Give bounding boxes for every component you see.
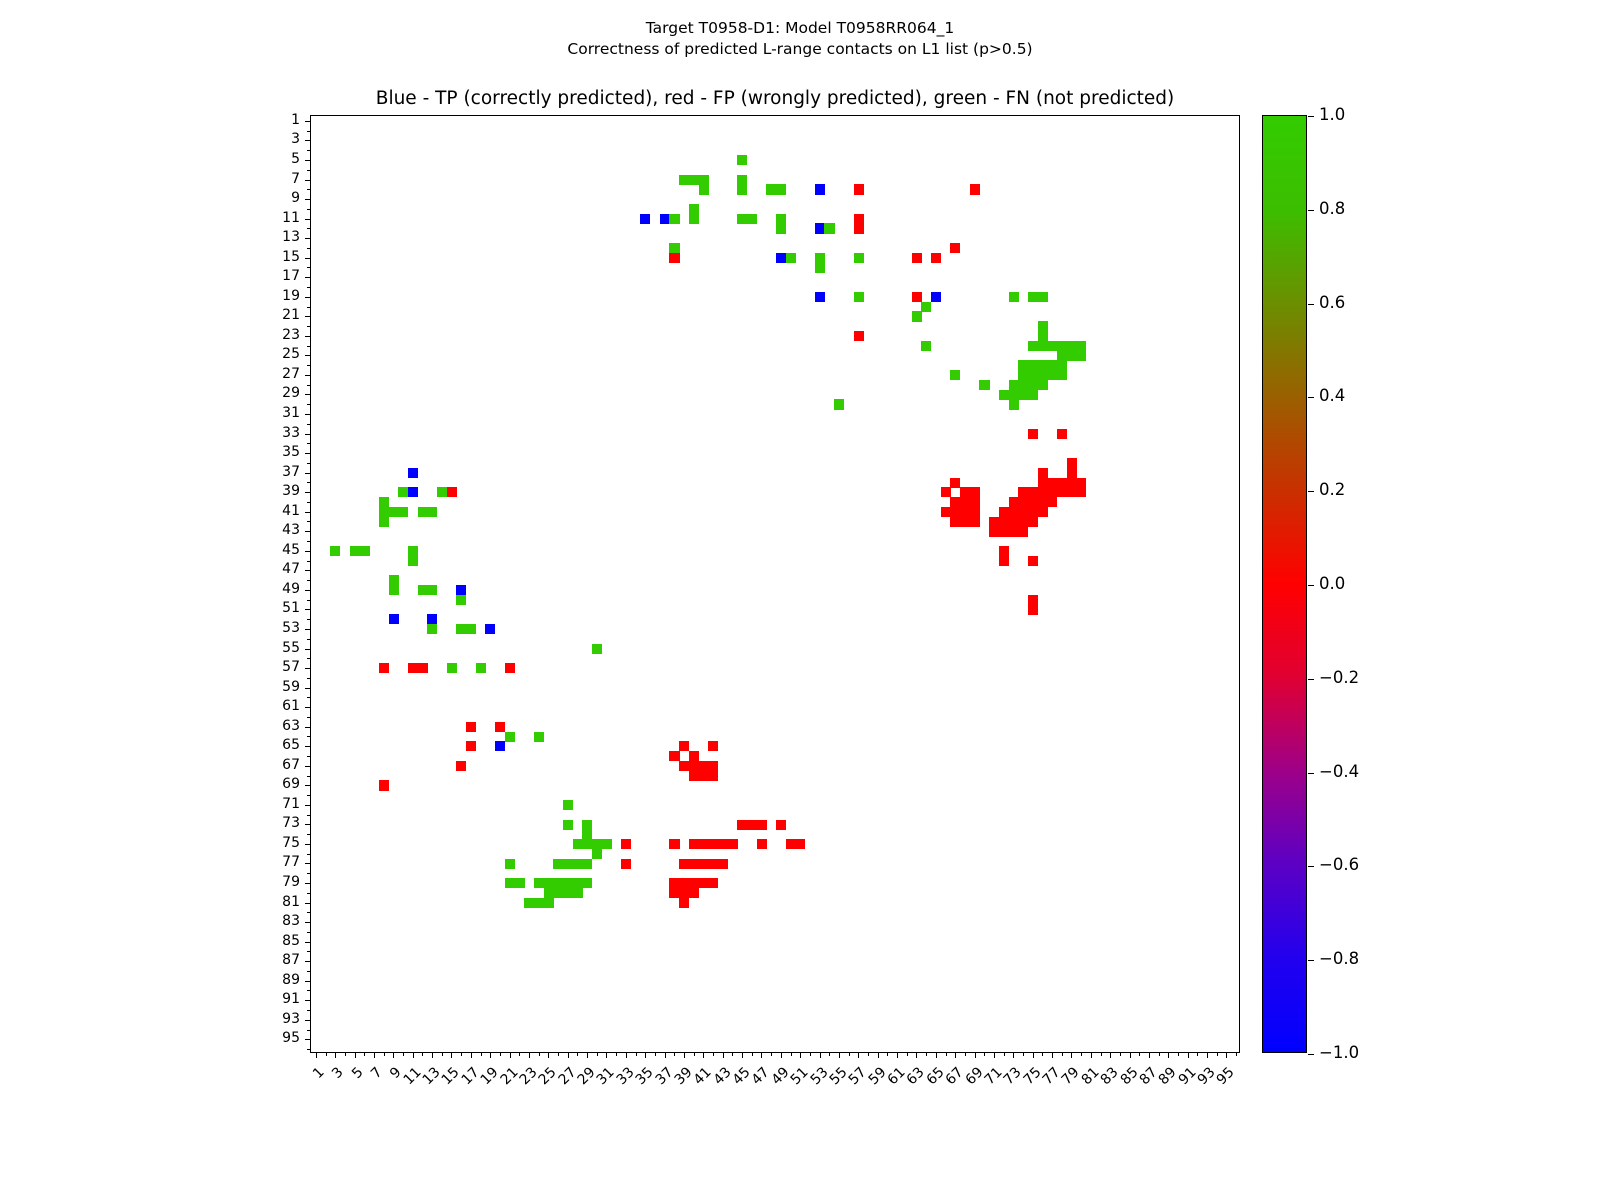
x-tick	[1062, 1052, 1063, 1056]
heatmap-cell	[553, 859, 563, 869]
heatmap-cell	[1047, 360, 1057, 370]
heatmap-cell	[737, 155, 747, 165]
heatmap-cell	[1038, 360, 1048, 370]
heatmap-cell	[786, 839, 796, 849]
y-tick-label: 31	[240, 406, 300, 420]
y-tick	[307, 365, 311, 366]
heatmap-cell	[679, 175, 689, 185]
y-tick	[305, 336, 311, 337]
heatmap-cell	[456, 624, 466, 634]
y-tick	[307, 170, 311, 171]
heatmap-cell	[476, 663, 486, 673]
y-tick-label: 73	[240, 816, 300, 830]
x-tick	[800, 1052, 801, 1058]
y-tick-label: 47	[240, 562, 300, 576]
y-tick	[305, 414, 311, 415]
y-tick	[307, 346, 311, 347]
heatmap-cell	[1018, 497, 1028, 507]
heatmap-cell	[669, 751, 679, 761]
y-tick	[307, 990, 311, 991]
x-tick	[839, 1052, 840, 1058]
heatmap-cell	[912, 311, 922, 321]
heatmap-cell	[1038, 341, 1048, 351]
y-tick-label: 87	[240, 953, 300, 967]
x-tick	[926, 1052, 927, 1056]
y-tick-label: 93	[240, 1012, 300, 1026]
heatmap-cell	[563, 800, 573, 810]
y-tick-label: 37	[240, 465, 300, 479]
heatmap-cell	[1057, 429, 1067, 439]
heatmap-cell	[1009, 380, 1019, 390]
y-tick	[305, 473, 311, 474]
heatmap-cell	[1038, 380, 1048, 390]
y-tick	[307, 482, 311, 483]
heatmap-cell	[398, 507, 408, 517]
colorbar-gradient	[1263, 116, 1306, 1052]
heatmap-cell	[1018, 360, 1028, 370]
x-tick	[1013, 1052, 1014, 1058]
heatmap-cell	[699, 175, 709, 185]
heatmap-cell	[456, 761, 466, 771]
heatmap-cell	[456, 595, 466, 605]
heatmap-cell	[786, 253, 796, 263]
heatmap-cell	[669, 888, 679, 898]
heatmap-cell	[950, 370, 960, 380]
colorbar-tick	[1308, 116, 1314, 117]
heatmap-cell	[669, 214, 679, 224]
y-tick	[307, 893, 311, 894]
x-tick	[791, 1052, 792, 1056]
y-tick	[307, 854, 311, 855]
y-tick	[307, 326, 311, 327]
figure-title: Target T0958-D1: Model T0958RR064_1 Corr…	[0, 18, 1600, 60]
y-tick	[307, 717, 311, 718]
heatmap-cell	[1028, 341, 1038, 351]
heatmap-cell	[582, 839, 592, 849]
y-tick	[305, 590, 311, 591]
x-tick	[413, 1052, 414, 1058]
y-tick-label: 77	[240, 855, 300, 869]
heatmap-cell	[418, 585, 428, 595]
heatmap-cell	[573, 839, 583, 849]
heatmap-cell	[1028, 595, 1038, 605]
heatmap-cell	[699, 761, 709, 771]
heatmap-cell	[524, 898, 534, 908]
heatmap-cell	[544, 898, 554, 908]
y-tick-label: 53	[240, 621, 300, 635]
colorbar-tick	[1308, 679, 1314, 680]
y-tick-label: 69	[240, 777, 300, 791]
title-line-1: Target T0958-D1: Model T0958RR064_1	[0, 18, 1600, 39]
y-tick-label: 43	[240, 523, 300, 537]
y-tick-label: 39	[240, 484, 300, 498]
heatmap-cell	[1028, 497, 1038, 507]
y-tick-label: 1	[240, 113, 300, 127]
heatmap-cell	[447, 663, 457, 673]
y-tick-label: 19	[240, 289, 300, 303]
heatmap-cell	[592, 839, 602, 849]
heatmap-cell	[582, 829, 592, 839]
heatmap-cell	[389, 585, 399, 595]
y-tick	[305, 277, 311, 278]
y-tick	[305, 492, 311, 493]
x-tick	[665, 1052, 666, 1058]
heatmap-cell	[854, 331, 864, 341]
heatmap-cell	[815, 223, 825, 233]
y-tick	[305, 121, 311, 122]
colorbar-tick	[1308, 304, 1314, 305]
x-tick	[393, 1052, 394, 1058]
heatmap-cell	[708, 878, 718, 888]
heatmap-cell	[708, 761, 718, 771]
heatmap-cell	[931, 253, 941, 263]
y-tick	[305, 238, 311, 239]
heatmap-cell	[1018, 487, 1028, 497]
heatmap-cell	[757, 839, 767, 849]
heatmap-cell	[408, 487, 418, 497]
heatmap-cell	[640, 214, 650, 224]
heatmap-cell	[1067, 351, 1077, 361]
y-tick	[305, 551, 311, 552]
x-tick	[878, 1052, 879, 1058]
heatmap-cell	[960, 507, 970, 517]
heatmap-cell	[1038, 321, 1048, 331]
heatmap-cell	[970, 497, 980, 507]
heatmap-cell	[466, 624, 476, 634]
heatmap-cell	[669, 253, 679, 263]
y-tick	[305, 961, 311, 962]
x-tick	[907, 1052, 908, 1056]
x-tick	[752, 1052, 753, 1056]
heatmap-cell	[747, 214, 757, 224]
x-tick	[539, 1052, 540, 1056]
x-tick	[965, 1052, 966, 1056]
heatmap-cell	[1009, 526, 1019, 536]
heatmap-cell	[970, 487, 980, 497]
y-tick	[307, 756, 311, 757]
heatmap-cell	[466, 741, 476, 751]
y-tick	[307, 307, 311, 308]
heatmap-cell	[582, 878, 592, 888]
heatmap-cell	[921, 302, 931, 312]
heatmap-cell	[1057, 487, 1067, 497]
x-tick	[1226, 1052, 1227, 1058]
x-tick	[916, 1052, 917, 1058]
y-tick	[307, 971, 311, 972]
heatmap-cell	[359, 546, 369, 556]
heatmap-cell	[408, 546, 418, 556]
heatmap-cell	[437, 487, 447, 497]
heatmap-cell	[1009, 399, 1019, 409]
x-tick	[481, 1052, 482, 1056]
heatmap-cell	[534, 878, 544, 888]
heatmap-cell	[999, 507, 1009, 517]
y-tick	[307, 580, 311, 581]
heatmap-cell	[689, 859, 699, 869]
y-tick	[305, 160, 311, 161]
heatmap-cell	[350, 546, 360, 556]
x-tick	[761, 1052, 762, 1058]
heatmap-cell	[1018, 370, 1028, 380]
heatmap-cell	[854, 253, 864, 263]
y-tick	[305, 140, 311, 141]
x-tick	[984, 1052, 985, 1056]
colorbar-tick-label: −1.0	[1319, 1045, 1359, 1061]
heatmap-cell	[544, 878, 554, 888]
y-tick	[305, 512, 311, 513]
heatmap-cell	[950, 517, 960, 527]
y-tick-label: 81	[240, 895, 300, 909]
x-tick	[1207, 1052, 1208, 1058]
heatmap-cell	[737, 214, 747, 224]
x-tick	[1149, 1052, 1150, 1058]
x-tick	[626, 1052, 627, 1058]
heatmap-cell	[1028, 556, 1038, 566]
x-tick	[723, 1052, 724, 1058]
y-tick	[305, 688, 311, 689]
heatmap-cell	[447, 487, 457, 497]
y-tick	[307, 736, 311, 737]
y-tick	[307, 678, 311, 679]
y-tick-label: 85	[240, 934, 300, 948]
heatmap-cell	[389, 575, 399, 585]
y-tick-label: 27	[240, 367, 300, 381]
heatmap-cell	[708, 741, 718, 751]
heatmap-cell	[699, 771, 709, 781]
y-tick	[305, 824, 311, 825]
y-tick-label: 51	[240, 601, 300, 615]
y-tick	[305, 766, 311, 767]
x-tick	[1188, 1052, 1189, 1058]
y-tick-label: 33	[240, 426, 300, 440]
y-tick	[307, 1049, 311, 1050]
heatmap-cell	[989, 517, 999, 527]
y-tick	[307, 404, 311, 405]
y-tick-label: 49	[240, 582, 300, 596]
heatmap-cell	[912, 292, 922, 302]
x-tick	[345, 1052, 346, 1056]
heatmap-cell	[679, 898, 689, 908]
y-tick	[307, 658, 311, 659]
heatmap-cell	[592, 849, 602, 859]
y-tick	[307, 873, 311, 874]
heatmap-cell	[1067, 468, 1077, 478]
heatmap-cell	[834, 399, 844, 409]
heatmap-cell	[1076, 351, 1086, 361]
heatmap-cell	[495, 722, 505, 732]
heatmap-cell	[999, 526, 1009, 536]
x-tick	[645, 1052, 646, 1058]
y-tick	[307, 619, 311, 620]
colorbar-tick	[1308, 1054, 1314, 1055]
x-tick	[946, 1052, 947, 1056]
y-tick	[305, 727, 311, 728]
x-tick	[1168, 1052, 1169, 1058]
colorbar-tick-label: 0.2	[1319, 482, 1345, 498]
heatmap-cell	[689, 888, 699, 898]
heatmap-cell	[330, 546, 340, 556]
x-tick	[606, 1052, 607, 1058]
heatmap-cell	[708, 859, 718, 869]
heatmap-cell	[1018, 507, 1028, 517]
x-tick	[461, 1052, 462, 1056]
y-tick-label: 15	[240, 250, 300, 264]
colorbar-tick	[1308, 773, 1314, 774]
y-tick-label: 89	[240, 973, 300, 987]
y-tick-label: 25	[240, 347, 300, 361]
heatmap-cell	[776, 184, 786, 194]
x-tick	[510, 1052, 511, 1058]
x-tick	[703, 1052, 704, 1058]
heatmap-cell	[592, 644, 602, 654]
x-tick	[597, 1052, 598, 1056]
y-tick-label: 23	[240, 328, 300, 342]
y-tick	[307, 150, 311, 151]
x-tick	[326, 1052, 327, 1056]
y-tick	[305, 375, 311, 376]
heatmap-cell	[1028, 292, 1038, 302]
y-tick	[305, 297, 311, 298]
heatmap-cell	[534, 732, 544, 742]
heatmap-cell	[553, 878, 563, 888]
y-tick	[305, 649, 311, 650]
y-tick	[305, 668, 311, 669]
y-tick-label: 83	[240, 914, 300, 928]
heatmap-cell	[1076, 487, 1086, 497]
y-tick	[307, 541, 311, 542]
y-tick	[307, 424, 311, 425]
x-tick	[432, 1052, 433, 1058]
heatmap-cell	[1009, 292, 1019, 302]
y-tick	[305, 453, 311, 454]
heatmap-cell	[1038, 370, 1048, 380]
y-tick	[307, 267, 311, 268]
heatmap-cell	[1057, 341, 1067, 351]
heatmap-cell	[418, 507, 428, 517]
x-tick	[732, 1052, 733, 1056]
y-tick-label: 59	[240, 680, 300, 694]
colorbar-tick-label: 1.0	[1319, 107, 1345, 123]
y-tick	[305, 609, 311, 610]
y-tick-label: 21	[240, 308, 300, 322]
x-tick	[655, 1052, 656, 1056]
heatmap-cell	[815, 263, 825, 273]
x-tick	[955, 1052, 956, 1058]
x-tick	[694, 1052, 695, 1056]
y-tick-label: 41	[240, 504, 300, 518]
heatmap-cell	[1038, 468, 1048, 478]
y-tick	[307, 776, 311, 777]
heatmap-cell	[1018, 390, 1028, 400]
y-tick	[307, 951, 311, 952]
x-tick	[829, 1052, 830, 1056]
y-tick-label: 57	[240, 660, 300, 674]
heatmap-cell	[679, 741, 689, 751]
y-tick-label: 29	[240, 386, 300, 400]
y-tick-label: 79	[240, 875, 300, 889]
title-line-2: Correctness of predicted L-range contact…	[0, 39, 1600, 60]
colorbar-tick-label: 0.0	[1319, 576, 1345, 592]
y-tick	[307, 639, 311, 640]
colorbar-tick	[1308, 491, 1314, 492]
heatmap-cell	[679, 859, 689, 869]
y-tick	[307, 521, 311, 522]
heatmap-cell	[398, 487, 408, 497]
heatmap-cell	[1076, 478, 1086, 488]
x-tick	[1178, 1052, 1179, 1056]
y-tick	[307, 1030, 311, 1031]
heatmap-cell	[737, 175, 747, 185]
heatmap-cell	[1009, 390, 1019, 400]
y-tick-label: 3	[240, 132, 300, 146]
y-tick	[305, 785, 311, 786]
x-tick	[936, 1052, 937, 1058]
heatmap-cell	[1028, 390, 1038, 400]
heatmap-cell	[534, 898, 544, 908]
heatmap-cell	[999, 390, 1009, 400]
heatmap-cell	[669, 878, 679, 888]
x-tick	[1139, 1052, 1140, 1056]
heatmap-cell	[699, 184, 709, 194]
heatmap-cell	[689, 839, 699, 849]
heatmap-cell	[485, 624, 495, 634]
heatmap-cell	[815, 253, 825, 263]
x-tick	[451, 1052, 452, 1058]
heatmap-cell	[854, 223, 864, 233]
x-tick	[1130, 1052, 1131, 1058]
heatmap-cell	[427, 507, 437, 517]
heatmap-cell	[563, 878, 573, 888]
heatmap-cell	[1067, 487, 1077, 497]
x-tick	[887, 1052, 888, 1056]
y-tick	[307, 912, 311, 913]
legend-caption: Blue - TP (correctly predicted), red - F…	[310, 88, 1240, 109]
heatmap-cell	[979, 380, 989, 390]
y-tick	[307, 561, 311, 562]
heatmap-cell	[660, 214, 670, 224]
y-tick	[307, 443, 311, 444]
x-tick	[1091, 1052, 1092, 1058]
heatmap-cell	[563, 820, 573, 830]
y-tick-label: 63	[240, 719, 300, 733]
heatmap-cell	[689, 214, 699, 224]
heatmap-cell	[950, 478, 960, 488]
heatmap-cell	[456, 585, 466, 595]
heatmap-cell	[1009, 507, 1019, 517]
heatmap-cell	[776, 223, 786, 233]
y-tick	[307, 1010, 311, 1011]
heatmap-cell	[1028, 487, 1038, 497]
heatmap-cell	[960, 487, 970, 497]
heatmap-cell	[950, 507, 960, 517]
heatmap-cell	[389, 507, 399, 517]
y-tick	[305, 180, 311, 181]
heatmap-cell	[573, 888, 583, 898]
y-tick	[307, 287, 311, 288]
x-tick	[713, 1052, 714, 1056]
x-tick	[1159, 1052, 1160, 1056]
y-tick	[305, 219, 311, 220]
heatmap-cell	[1028, 507, 1038, 517]
y-tick	[307, 502, 311, 503]
y-tick	[305, 707, 311, 708]
heatmap-cell	[669, 243, 679, 253]
heatmap-cell	[699, 878, 709, 888]
y-tick	[307, 248, 311, 249]
heatmap-cell	[1047, 478, 1057, 488]
x-tick	[781, 1052, 782, 1058]
colorbar-tick	[1308, 210, 1314, 211]
